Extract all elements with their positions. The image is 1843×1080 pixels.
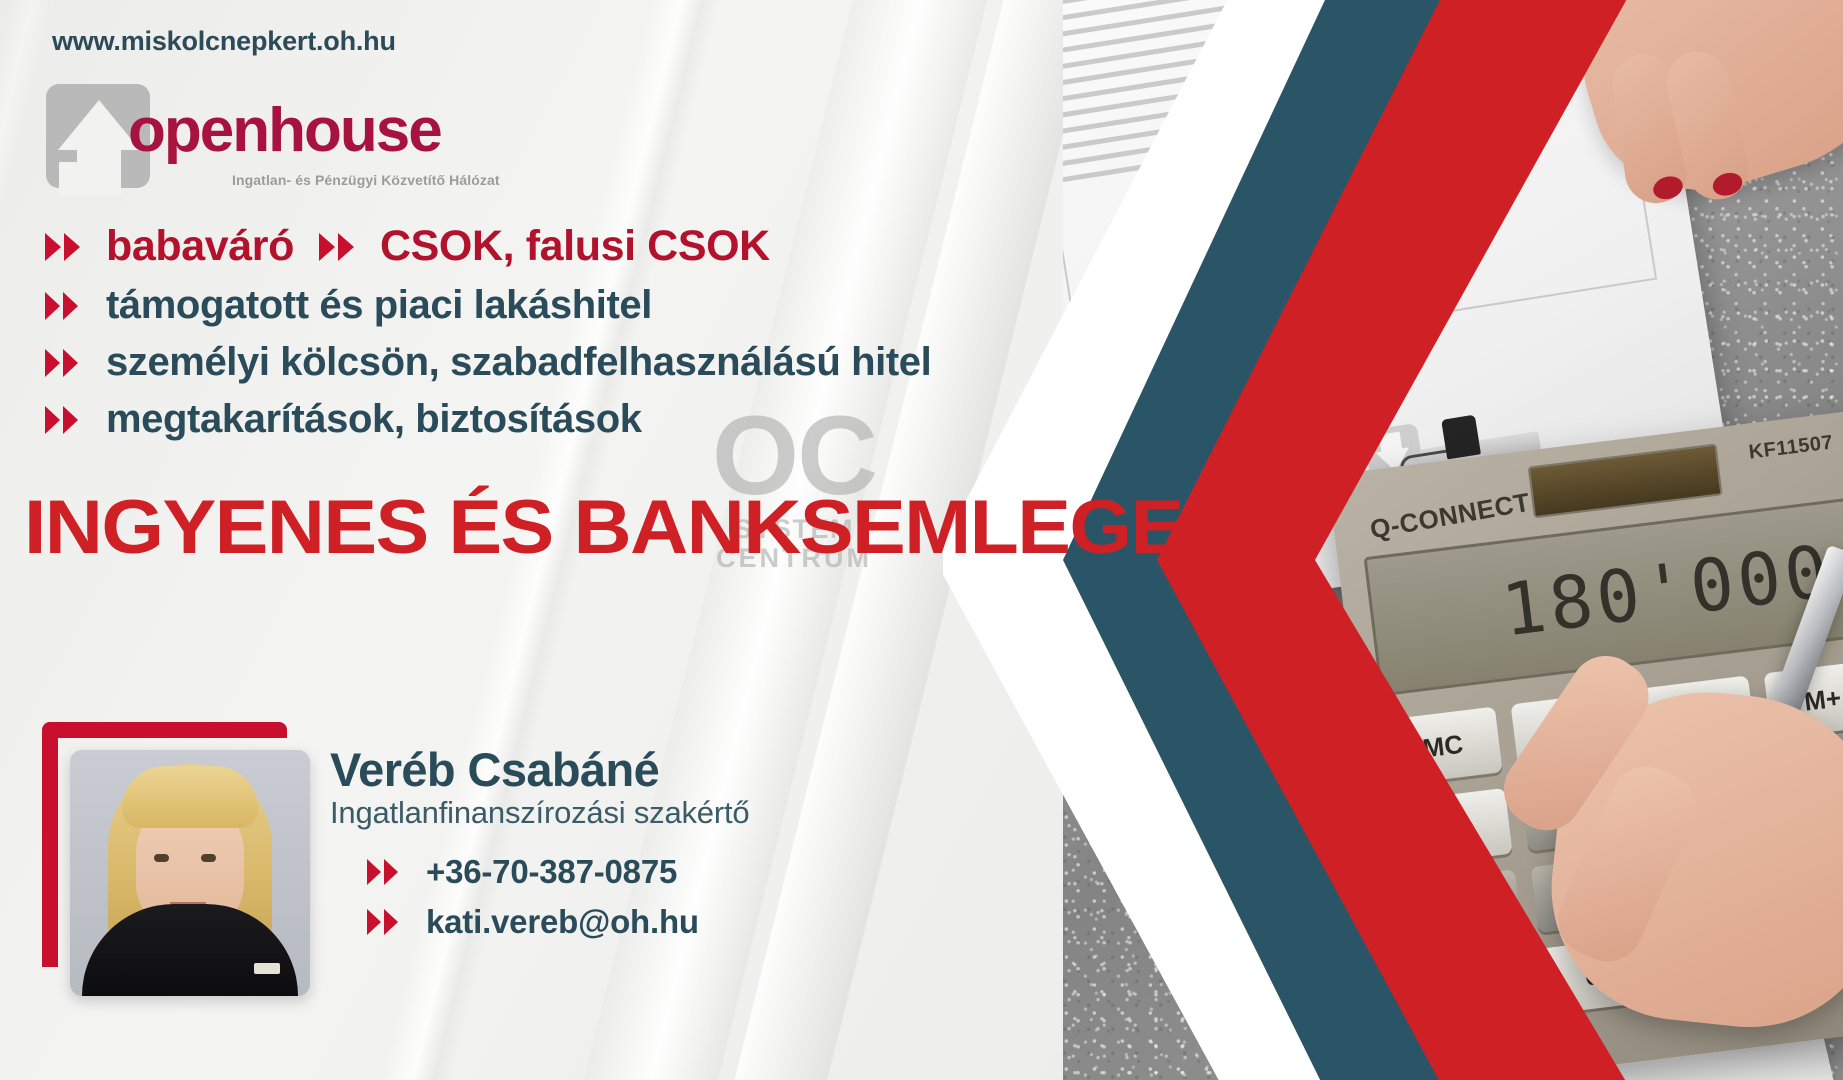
website-url[interactable]: www.miskolcnepkert.oh.hu: [52, 26, 396, 57]
portrait-photo: [70, 750, 310, 996]
contact-row-phone[interactable]: +36-70-387-0875: [366, 853, 749, 891]
name-badge: [254, 963, 280, 974]
openhouse-logo: openhouse Ingatlan- és Pénzügyi Közvetít…: [46, 84, 516, 194]
list-item: babaváró CSOK, falusi CSOK: [44, 222, 1104, 271]
agent-email[interactable]: kati.vereb@oh.hu: [426, 903, 699, 941]
list-item: személyi kölcsön, szabadfelhasználású hi…: [44, 340, 1104, 385]
eye-shape: [201, 854, 216, 862]
service-label: támogatott és piaci lakáshitel: [106, 283, 652, 328]
service-label: megtakarítások, biztosítások: [106, 397, 642, 442]
agent-contact-rows: +36-70-387-0875 kati.vereb@oh.hu: [366, 853, 749, 941]
contact-row-email[interactable]: kati.vereb@oh.hu: [366, 903, 749, 941]
house-body-shape: [77, 146, 121, 196]
calculator-key[interactable]: 4: [1403, 869, 1522, 948]
page-title: INGYENES ÉS BANKSEMLEGES: [24, 484, 1235, 571]
calculator-key[interactable]: MC: [1384, 707, 1503, 786]
logo-wordmark: openhouse: [128, 100, 441, 162]
calculator-key[interactable]: %: [1393, 788, 1512, 867]
double-chevron-right-icon: [366, 858, 410, 886]
calculator-model-label: KF11507: [1748, 431, 1835, 464]
double-chevron-right-icon: [366, 908, 410, 936]
list-item: megtakarítások, biztosítások: [44, 397, 1104, 442]
logo-tagline: Ingatlan- és Pénzügyi Közvetítő Hálózat: [232, 172, 500, 188]
service-label: babaváró: [106, 222, 294, 271]
service-label: CSOK, falusi CSOK: [380, 222, 770, 271]
house-notch-shape: [59, 162, 81, 196]
hand-with-pen: [1502, 554, 1843, 1006]
solar-panel: [1528, 444, 1723, 519]
fringe-shape: [122, 766, 258, 828]
agent-phone[interactable]: +36-70-387-0875: [426, 853, 677, 891]
service-label: személyi kölcsön, szabadfelhasználású hi…: [106, 340, 931, 385]
double-chevron-right-icon: [44, 405, 90, 435]
list-item: támogatott és piaci lakáshitel: [44, 283, 1104, 328]
clip-tab: [1441, 415, 1481, 460]
agent-contact-block: Veréb Csabáné Ingatlanfinanszírozási sza…: [330, 742, 749, 953]
double-chevron-right-icon: [318, 231, 364, 263]
avatar: [42, 722, 332, 1012]
advertisement-canvas: openhouse Ingatlan- és Pénzügyi Közvetít…: [0, 0, 1843, 1080]
service-list: babaváró CSOK, falusi CSOK támogatott és…: [44, 222, 1104, 454]
agent-role: Ingatlanfinanszírozási szakértő: [330, 795, 749, 831]
calculator-brand-label: Q-CONNECT: [1368, 487, 1533, 546]
double-chevron-right-icon: [44, 291, 90, 321]
double-chevron-right-icon: [44, 348, 90, 378]
agent-name: Veréb Csabáné: [330, 742, 749, 797]
eye-shape: [154, 854, 169, 862]
double-chevron-right-icon: [44, 231, 90, 263]
